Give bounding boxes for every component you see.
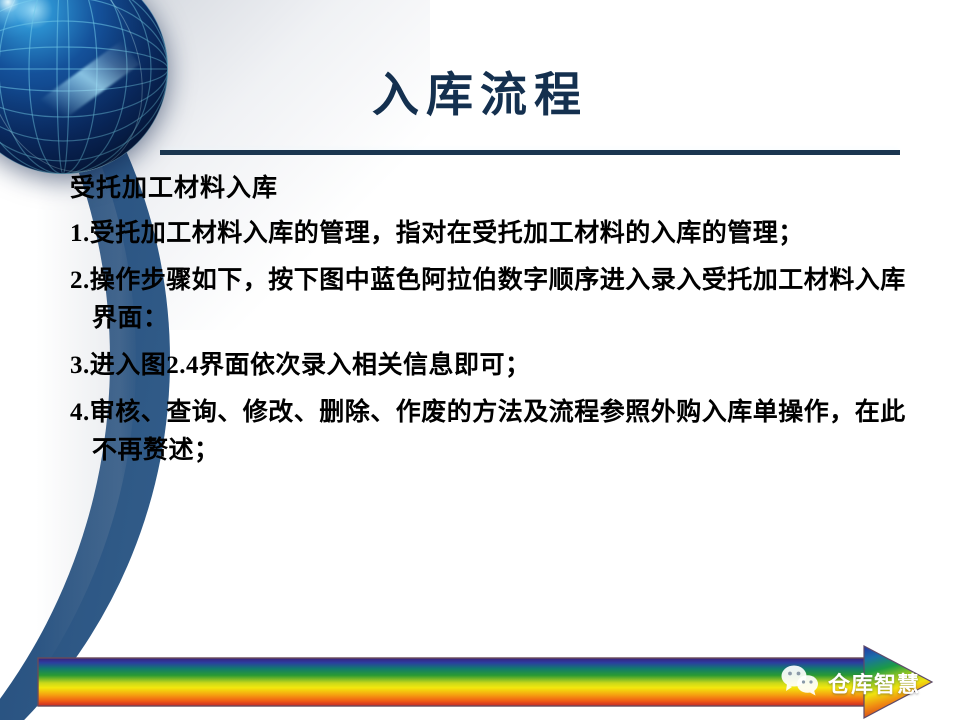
bullet-item-3: 3.进入图2.4界面依次录入相关信息即可； <box>70 347 925 385</box>
slide-canvas: 入库流程 受托加工材料入库 1.受托加工材料入库的管理，指对在受托加工材料的入库… <box>0 0 960 720</box>
bullet-item-2: 2.操作步骤如下，按下图中蓝色阿拉伯数字顺序进入录入受托加工材料入库界面： <box>70 262 925 338</box>
watermark-label: 仓库智慧 <box>828 667 920 699</box>
wechat-icon <box>780 664 820 701</box>
wechat-watermark: 仓库智慧 <box>780 664 920 701</box>
page-title: 入库流程 <box>0 56 960 125</box>
title-divider <box>160 150 900 155</box>
bullet-item-1: 1.受托加工材料入库的管理，指对在受托加工材料的入库的管理； <box>70 215 925 253</box>
body-lead: 受托加工材料入库 <box>70 172 925 206</box>
slide-body: 受托加工材料入库 1.受托加工材料入库的管理，指对在受托加工材料的入库的管理； … <box>70 172 925 479</box>
bullet-item-4: 4.审核、查询、修改、删除、作废的方法及流程参照外购入库单操作，在此不再赘述； <box>70 394 925 470</box>
